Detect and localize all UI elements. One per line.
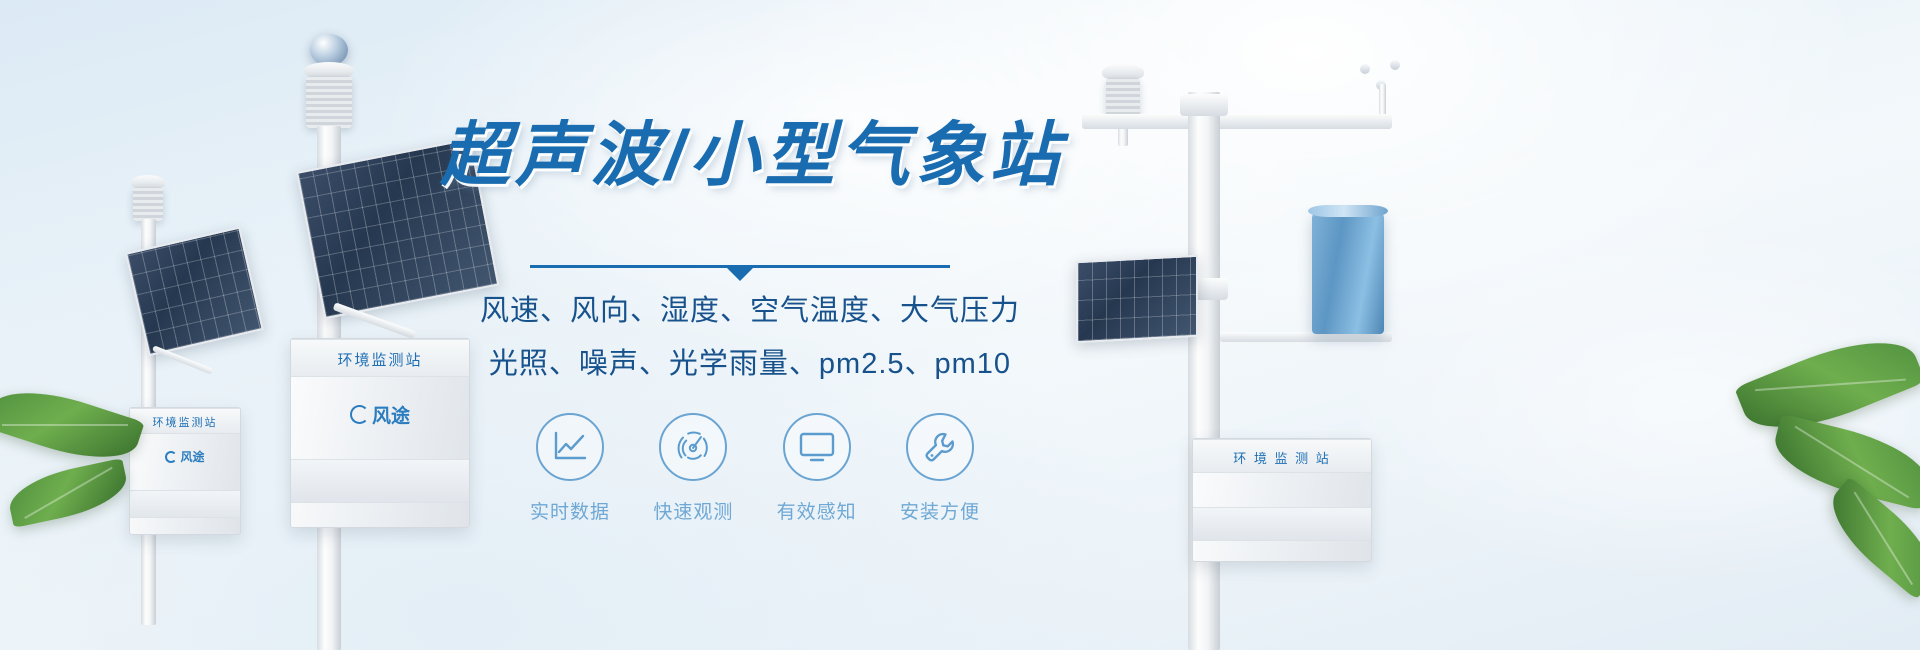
feature-label: 快速观测 (643, 497, 743, 524)
feature-item-realtime-data[interactable]: 实时数据 (520, 413, 620, 524)
brand-mark-icon (350, 405, 369, 424)
monitor-icon (783, 413, 851, 481)
brand-mark-icon (165, 451, 177, 463)
solar-panel (1076, 255, 1198, 343)
feature-item-effective-sensing[interactable]: 有效感知 (767, 413, 867, 524)
sensor-head-icon (133, 187, 163, 221)
anemometer-icon (1360, 58, 1404, 118)
feature-item-fast-observation[interactable]: 快速观测 (643, 413, 743, 524)
equipment-cabinet: 环 境 监 测 站 (1192, 438, 1372, 562)
cabinet-label: 环境监测站 (130, 414, 240, 430)
banner-content: 超声波/小型气象站 风速、风向、湿度、空气温度、大气压力 光照、噪声、光学雨量、… (440, 0, 1060, 650)
ultrasonic-sensor-icon (1106, 78, 1140, 118)
divider-triangle-icon (727, 268, 753, 281)
feature-list: 实时数据 快速观测 (520, 413, 990, 524)
weather-station-right: 环 境 监 测 站 (1060, 50, 1480, 650)
radar-icon (659, 413, 727, 481)
cabinet-lower-strip (130, 490, 240, 518)
subtitle-line-1: 风速、风向、湿度、空气温度、大气压力 (440, 287, 1060, 329)
wrench-icon (906, 413, 974, 481)
cabinet-label: 环 境 监 测 站 (1193, 448, 1371, 467)
anemometer-cup (1360, 64, 1370, 74)
optical-rain-gauge (1312, 212, 1384, 334)
sensor-head-icon (306, 76, 352, 128)
panel-support-arm (152, 345, 214, 375)
feature-item-easy-installation[interactable]: 安装方便 (890, 413, 990, 524)
cabinet-lower-strip (1193, 507, 1371, 541)
subtitle-line-2: 光照、噪声、光学雨量、pm2.5、pm10 (440, 340, 1060, 382)
feature-label: 实时数据 (520, 497, 620, 524)
feature-label: 有效感知 (767, 497, 867, 524)
feature-label: 安装方便 (890, 497, 990, 524)
brand-logo: 风途 (130, 448, 240, 465)
brand-name: 风途 (372, 406, 410, 427)
mast-pole (1188, 92, 1220, 650)
cross-arm (1082, 114, 1392, 129)
title-divider (530, 265, 950, 268)
page-title: 超声波/小型气象站 (440, 120, 1120, 190)
brand-name: 风途 (180, 450, 204, 464)
equipment-cabinet: 环境监测站 风途 (129, 407, 241, 535)
line-chart-icon (536, 413, 604, 481)
product-banner: 环境监测站 风途 环境监测站 风途 (0, 0, 1920, 650)
anemometer-cup (1390, 60, 1400, 70)
mast-collar (1180, 94, 1228, 116)
